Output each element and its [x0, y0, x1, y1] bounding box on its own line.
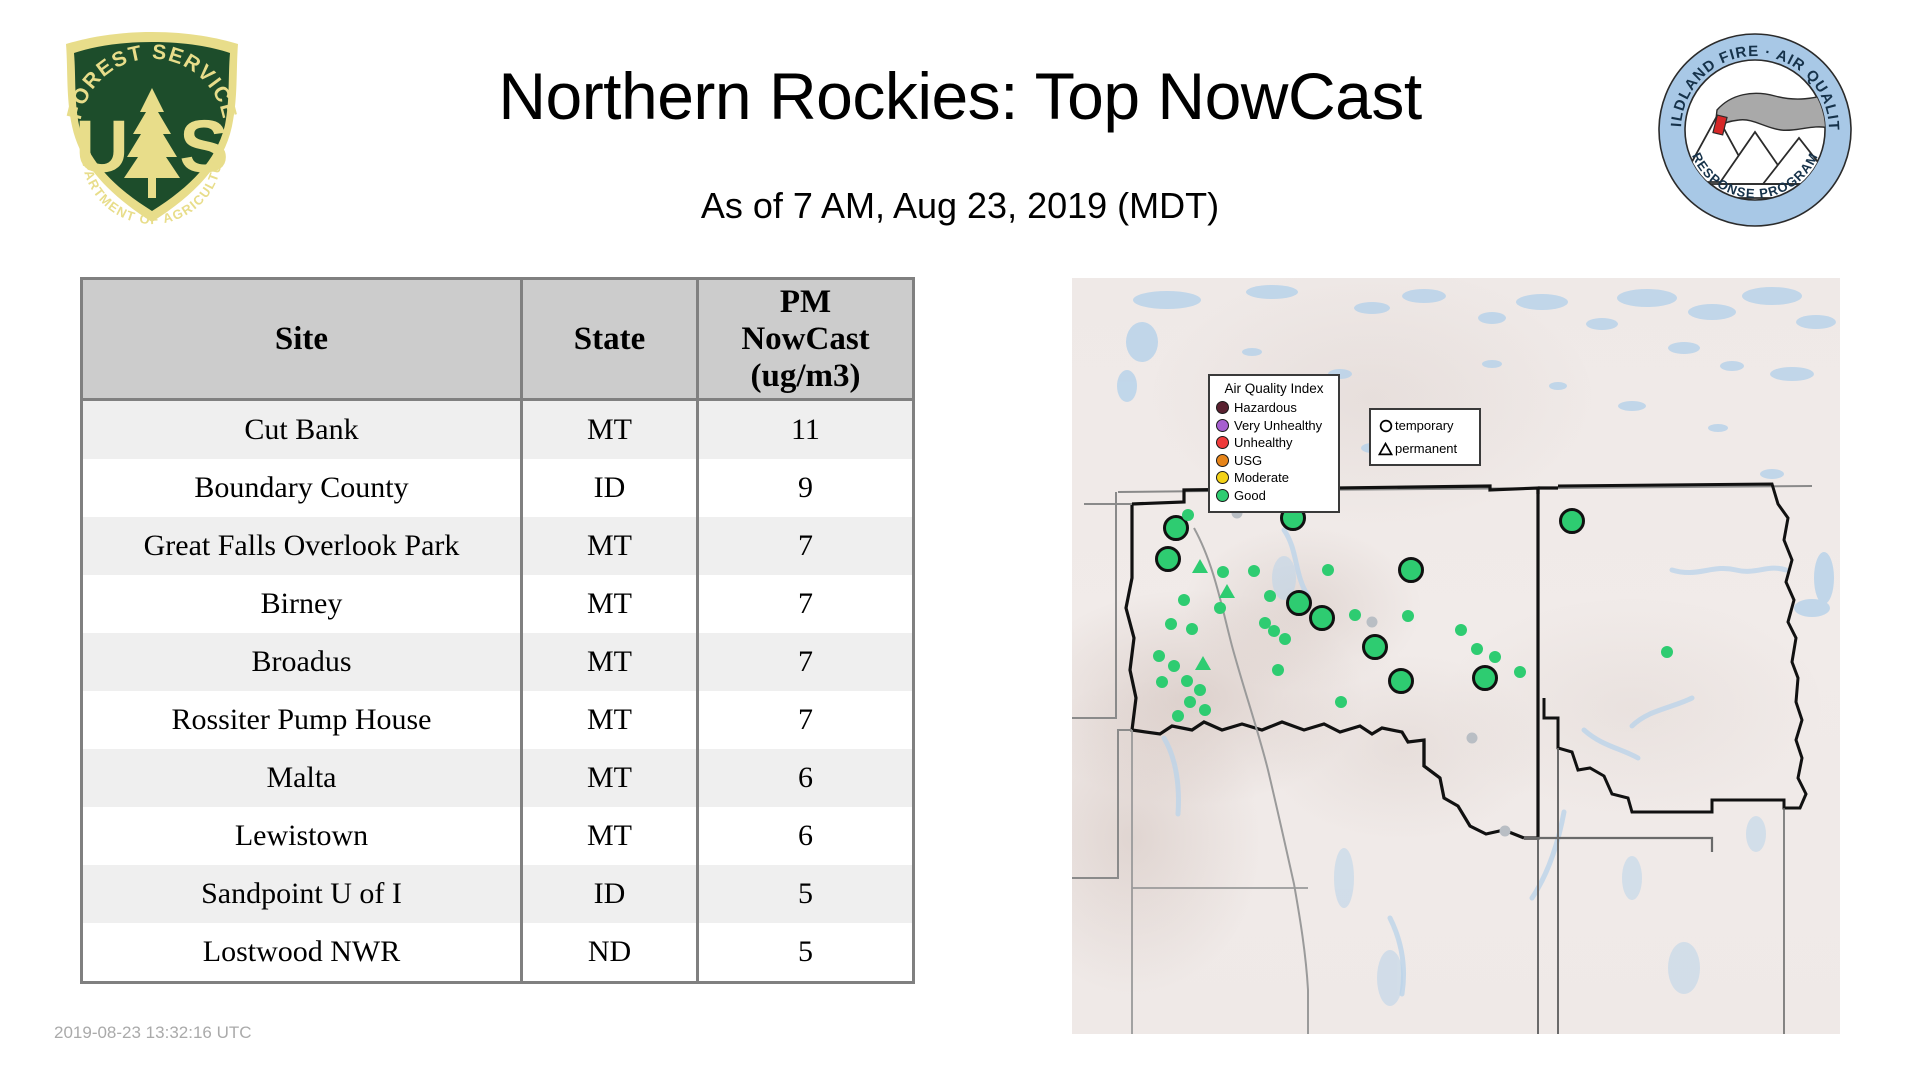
- monitor-marker-small[interactable]: [1471, 643, 1483, 655]
- monitor-marker-small[interactable]: [1661, 646, 1673, 658]
- monitor-marker-small[interactable]: [1199, 704, 1211, 716]
- table-row: Lostwood NWRND5: [82, 923, 914, 983]
- cell-pm-nowcast: 7: [698, 633, 914, 691]
- cell-state: MT: [522, 400, 698, 460]
- monitor-marker-offline[interactable]: [1367, 617, 1378, 628]
- cell-site: Malta: [82, 749, 522, 807]
- monitor-marker-large[interactable]: [1362, 634, 1388, 660]
- page-subtitle: As of 7 AM, Aug 23, 2019 (MDT): [270, 185, 1650, 227]
- monitor-marker-small[interactable]: [1168, 660, 1180, 672]
- monitor-marker-small[interactable]: [1156, 676, 1168, 688]
- aqi-legend-items: HazardousVery UnhealthyUnhealthyUSGModer…: [1216, 399, 1332, 504]
- monitor-marker-permanent[interactable]: [1192, 559, 1208, 573]
- cell-state: MT: [522, 749, 698, 807]
- monitor-marker-small[interactable]: [1268, 625, 1280, 637]
- monitor-marker-small[interactable]: [1248, 565, 1260, 577]
- monitor-marker-large[interactable]: [1155, 546, 1181, 572]
- monitor-marker-large[interactable]: [1388, 668, 1414, 694]
- aqi-legend: Air Quality Index HazardousVery Unhealth…: [1208, 374, 1340, 513]
- monitor-marker-small[interactable]: [1181, 675, 1193, 687]
- aqi-legend-row: Very Unhealthy: [1216, 417, 1332, 435]
- monitor-marker-small[interactable]: [1455, 624, 1467, 636]
- cell-state: MT: [522, 517, 698, 575]
- aqi-legend-row: Unhealthy: [1216, 434, 1332, 452]
- monitor-marker-small[interactable]: [1322, 564, 1334, 576]
- table-row: LewistownMT6: [82, 807, 914, 865]
- monitor-marker-small[interactable]: [1264, 590, 1276, 602]
- monitor-marker-small[interactable]: [1402, 610, 1414, 622]
- cell-site: Boundary County: [82, 459, 522, 517]
- monitor-marker-offline[interactable]: [1467, 733, 1478, 744]
- monitor-marker-small[interactable]: [1214, 602, 1226, 614]
- cell-pm-nowcast: 6: [698, 749, 914, 807]
- monitor-marker-large[interactable]: [1309, 605, 1335, 631]
- legend-row-permanent: permanent: [1376, 437, 1474, 460]
- monitor-marker-small[interactable]: [1184, 696, 1196, 708]
- cell-site: Lewistown: [82, 807, 522, 865]
- monitor-marker-permanent[interactable]: [1195, 656, 1211, 670]
- aqi-swatch-icon: [1216, 401, 1229, 414]
- column-header-state: State: [522, 279, 698, 400]
- monitor-marker-small[interactable]: [1165, 618, 1177, 630]
- cell-pm-nowcast: 6: [698, 807, 914, 865]
- aqi-legend-row: Good: [1216, 487, 1332, 505]
- monitor-marker-large[interactable]: [1559, 508, 1585, 534]
- cell-pm-nowcast: 11: [698, 400, 914, 460]
- cell-state: MT: [522, 633, 698, 691]
- top-nowcast-table-container: Site State PM NowCast (ug/m3) Cut BankMT…: [80, 277, 912, 984]
- svg-text:S: S: [179, 105, 228, 188]
- monitor-marker-small[interactable]: [1153, 650, 1165, 662]
- table-row: Boundary CountyID9: [82, 459, 914, 517]
- column-header-pm-line2: NowCast: [703, 321, 908, 358]
- aqi-legend-label: Hazardous: [1234, 400, 1297, 415]
- cell-state: ID: [522, 459, 698, 517]
- aqi-legend-label: Good: [1234, 488, 1266, 503]
- aqi-legend-row: USG: [1216, 452, 1332, 470]
- table-row: Cut BankMT11: [82, 400, 914, 460]
- aqi-legend-label: Moderate: [1234, 470, 1289, 485]
- cell-site: Broadus: [82, 633, 522, 691]
- monitor-marker-small[interactable]: [1217, 566, 1229, 578]
- column-header-pm-line1: PM: [703, 284, 908, 321]
- monitor-marker-small[interactable]: [1194, 684, 1206, 696]
- page-title: Northern Rockies: Top NowCast: [270, 58, 1650, 134]
- aqi-legend-label: USG: [1234, 453, 1262, 468]
- monitor-marker-small[interactable]: [1514, 666, 1526, 678]
- aqi-legend-row: Hazardous: [1216, 399, 1332, 417]
- monitor-marker-layer: [1072, 278, 1840, 1034]
- monitor-marker-large[interactable]: [1286, 590, 1312, 616]
- cell-pm-nowcast: 7: [698, 575, 914, 633]
- monitor-marker-small[interactable]: [1272, 664, 1284, 676]
- cell-site: Lostwood NWR: [82, 923, 522, 983]
- cell-pm-nowcast: 5: [698, 865, 914, 923]
- aqi-swatch-icon: [1216, 454, 1229, 467]
- aqi-legend-label: Unhealthy: [1234, 435, 1293, 450]
- page-header: FOREST SERVICE DEPARTMENT OF AGRICULTURE…: [0, 0, 1920, 265]
- legend-label-permanent: permanent: [1395, 441, 1457, 456]
- aqi-swatch-icon: [1216, 471, 1229, 484]
- wildland-fire-air-quality-logo: WILDLAND FIRE · AIR QUALITY RESPONSE PRO…: [1657, 32, 1853, 228]
- table-header: Site State PM NowCast (ug/m3): [82, 279, 914, 400]
- aqi-legend-row: Moderate: [1216, 469, 1332, 487]
- table-row: MaltaMT6: [82, 749, 914, 807]
- monitor-marker-small[interactable]: [1172, 710, 1184, 722]
- cell-pm-nowcast: 7: [698, 691, 914, 749]
- cell-state: ND: [522, 923, 698, 983]
- monitor-marker-small[interactable]: [1186, 623, 1198, 635]
- monitor-marker-small[interactable]: [1335, 696, 1347, 708]
- cell-pm-nowcast: 5: [698, 923, 914, 983]
- monitor-marker-permanent[interactable]: [1219, 584, 1235, 598]
- monitor-marker-small[interactable]: [1182, 509, 1194, 521]
- aqi-legend-label: Very Unhealthy: [1234, 418, 1322, 433]
- monitor-marker-large[interactable]: [1472, 665, 1498, 691]
- temporary-circle-icon: [1376, 419, 1395, 433]
- cell-pm-nowcast: 9: [698, 459, 914, 517]
- monitor-type-legend: temporary permanent: [1369, 408, 1481, 466]
- cell-site: Sandpoint U of I: [82, 865, 522, 923]
- aqi-legend-title: Air Quality Index: [1216, 381, 1332, 397]
- monitor-marker-small[interactable]: [1279, 633, 1291, 645]
- generated-timestamp: 2019-08-23 13:32:16 UTC: [54, 1023, 252, 1043]
- cell-state: ID: [522, 865, 698, 923]
- monitor-marker-offline[interactable]: [1500, 826, 1511, 837]
- monitor-marker-small[interactable]: [1489, 651, 1501, 663]
- table-body: Cut BankMT11Boundary CountyID9Great Fall…: [82, 400, 914, 983]
- cell-state: MT: [522, 575, 698, 633]
- cell-site: Cut Bank: [82, 400, 522, 460]
- monitor-marker-small[interactable]: [1349, 609, 1361, 621]
- table-row: Great Falls Overlook ParkMT7: [82, 517, 914, 575]
- air-quality-map[interactable]: Air Quality Index HazardousVery Unhealth…: [1072, 278, 1840, 1034]
- table-row: BirneyMT7: [82, 575, 914, 633]
- column-header-pm-line3: (ug/m3): [703, 358, 908, 395]
- cell-site: Rossiter Pump House: [82, 691, 522, 749]
- table-row: Rossiter Pump HouseMT7: [82, 691, 914, 749]
- svg-text:U: U: [75, 105, 128, 188]
- table-header-row: Site State PM NowCast (ug/m3): [82, 279, 914, 400]
- top-nowcast-table: Site State PM NowCast (ug/m3) Cut BankMT…: [80, 277, 915, 984]
- aqi-swatch-icon: [1216, 419, 1229, 432]
- usda-forest-service-logo: FOREST SERVICE DEPARTMENT OF AGRICULTURE…: [52, 26, 252, 236]
- cell-site: Birney: [82, 575, 522, 633]
- monitor-marker-large[interactable]: [1398, 557, 1424, 583]
- cell-state: MT: [522, 691, 698, 749]
- legend-label-temporary: temporary: [1395, 418, 1454, 433]
- table-row: BroadusMT7: [82, 633, 914, 691]
- aqi-swatch-icon: [1216, 489, 1229, 502]
- cell-site: Great Falls Overlook Park: [82, 517, 522, 575]
- column-header-site: Site: [82, 279, 522, 400]
- permanent-triangle-icon: [1376, 442, 1395, 456]
- column-header-pm-nowcast: PM NowCast (ug/m3): [698, 279, 914, 400]
- cell-state: MT: [522, 807, 698, 865]
- cell-pm-nowcast: 7: [698, 517, 914, 575]
- monitor-marker-small[interactable]: [1178, 594, 1190, 606]
- aqi-swatch-icon: [1216, 436, 1229, 449]
- table-row: Sandpoint U of IID5: [82, 865, 914, 923]
- legend-row-temporary: temporary: [1376, 414, 1474, 437]
